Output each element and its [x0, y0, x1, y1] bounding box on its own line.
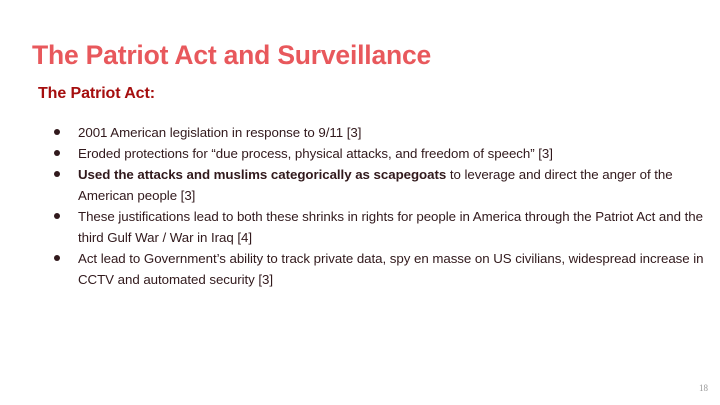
list-item: These justifications lead to both these … — [48, 206, 708, 248]
bullet-point-icon — [54, 255, 60, 261]
list-item-text: Eroded protections for “due process, phy… — [78, 146, 553, 161]
list-item: Act lead to Government’s ability to trac… — [48, 248, 708, 290]
slide-canvas: The Patriot Act and Surveillance The Pat… — [0, 0, 720, 405]
list-item-text: 2001 American legislation in response to… — [78, 125, 361, 140]
list-item-text: Used the attacks and muslims categorical… — [78, 167, 673, 203]
list-item: Eroded protections for “due process, phy… — [48, 143, 708, 164]
bullet-point-icon — [54, 129, 60, 135]
plain-text: Eroded protections for “due process, phy… — [78, 146, 553, 161]
bullet-point-icon — [54, 150, 60, 156]
plain-text: Act lead to Government’s ability to trac… — [78, 251, 704, 287]
section-heading: The Patriot Act: — [38, 84, 155, 105]
plain-text: These justifications lead to both these … — [78, 209, 703, 245]
page-title: The Patriot Act and Surveillance — [32, 41, 431, 71]
list-item: 2001 American legislation in response to… — [48, 122, 708, 143]
bullet-point-icon — [54, 213, 60, 219]
list-item-text: Act lead to Government’s ability to trac… — [78, 251, 704, 287]
page-number: 18 — [699, 383, 708, 393]
list-item: Used the attacks and muslims categorical… — [48, 164, 708, 206]
list-item-text: These justifications lead to both these … — [78, 209, 703, 245]
bullet-point-icon — [54, 171, 60, 177]
bullet-list: 2001 American legislation in response to… — [48, 122, 708, 290]
emphasis-text: Used the attacks and muslims categorical… — [78, 167, 446, 182]
plain-text: 2001 American legislation in response to… — [78, 125, 361, 140]
